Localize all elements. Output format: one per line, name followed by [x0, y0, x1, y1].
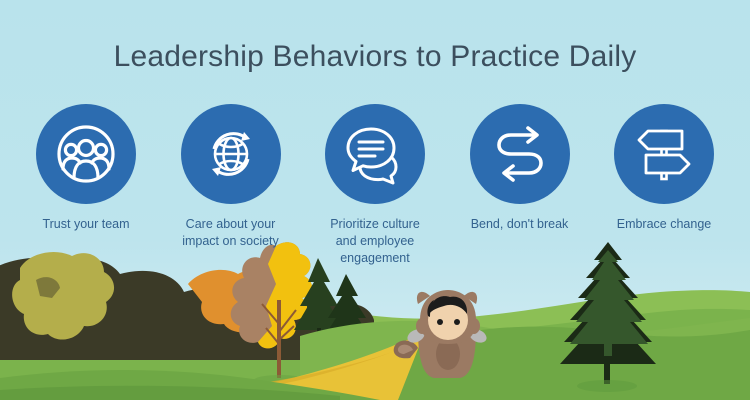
behavior-icon-circle[interactable]: [36, 104, 136, 204]
s-curve-arrows-icon: [489, 123, 551, 185]
behavior-icon-circle[interactable]: [181, 104, 281, 204]
globe-recycle-icon: [200, 123, 262, 185]
behavior-label: Care about your impact on society: [182, 216, 279, 250]
behavior-item-prioritize-culture[interactable]: Prioritize culture and employee engageme…: [305, 104, 445, 267]
behavior-icon-circle[interactable]: [325, 104, 425, 204]
page-title: Leadership Behaviors to Practice Daily: [0, 40, 750, 74]
infographic-canvas: Leadership Behaviors to Practice Daily: [0, 0, 750, 400]
signpost-icon: [633, 123, 695, 185]
behaviors-row: Trust your team: [16, 104, 734, 267]
behavior-item-embrace-change[interactable]: Embrace change: [594, 104, 734, 233]
behavior-icon-circle[interactable]: [470, 104, 570, 204]
behavior-label: Bend, don't break: [471, 216, 569, 233]
behavior-item-bend-dont-break[interactable]: Bend, don't break: [450, 104, 590, 233]
behavior-item-trust-your-team[interactable]: Trust your team: [16, 104, 156, 233]
behavior-label: Trust your team: [42, 216, 129, 233]
speech-bubbles-icon: [344, 123, 406, 185]
behavior-label: Prioritize culture and employee engageme…: [330, 216, 420, 267]
people-group-icon: [55, 123, 117, 185]
behavior-item-care-about-impact[interactable]: Care about your impact on society: [161, 104, 301, 250]
behavior-label: Embrace change: [617, 216, 712, 233]
behavior-icon-circle[interactable]: [614, 104, 714, 204]
